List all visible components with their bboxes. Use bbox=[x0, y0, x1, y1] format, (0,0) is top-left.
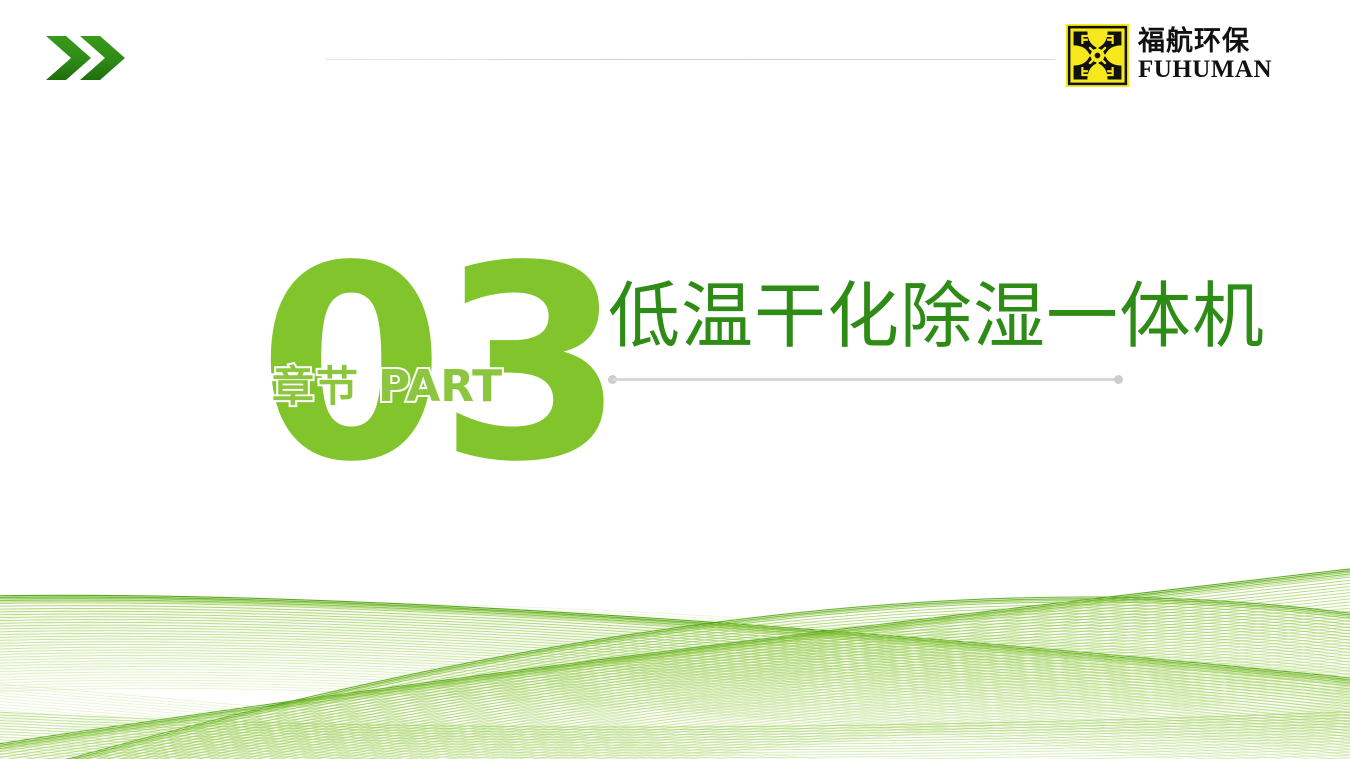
slide-canvas: 福航环保 FUHUMAN 03 章节 PART 低温干化除湿一体机 bbox=[0, 0, 1350, 759]
fuhuman-logo-mark-icon bbox=[1066, 24, 1129, 87]
green-line-wave-decoration bbox=[0, 559, 1350, 759]
title-divider-bar bbox=[612, 378, 1119, 381]
section-title: 低温干化除湿一体机 bbox=[608, 280, 1265, 352]
double-chevron-right-icon bbox=[44, 32, 128, 84]
brand-name-cn: 福航环保 bbox=[1138, 28, 1272, 56]
section-kicker: 章节 PART bbox=[272, 353, 502, 414]
brand-name-en: FUHUMAN bbox=[1138, 57, 1272, 83]
brand-text-block: 福航环保 FUHUMAN bbox=[1138, 28, 1272, 84]
header-divider-rule bbox=[325, 59, 1055, 60]
section-kicker-en: PART bbox=[378, 361, 502, 412]
section-number-group: 03 章节 PART bbox=[258, 258, 538, 483]
section-kicker-cn: 章节 bbox=[272, 353, 360, 414]
title-divider-dot-right bbox=[1114, 375, 1123, 384]
title-divider bbox=[608, 375, 1123, 384]
brand-logo: 福航环保 FUHUMAN bbox=[1066, 24, 1272, 87]
